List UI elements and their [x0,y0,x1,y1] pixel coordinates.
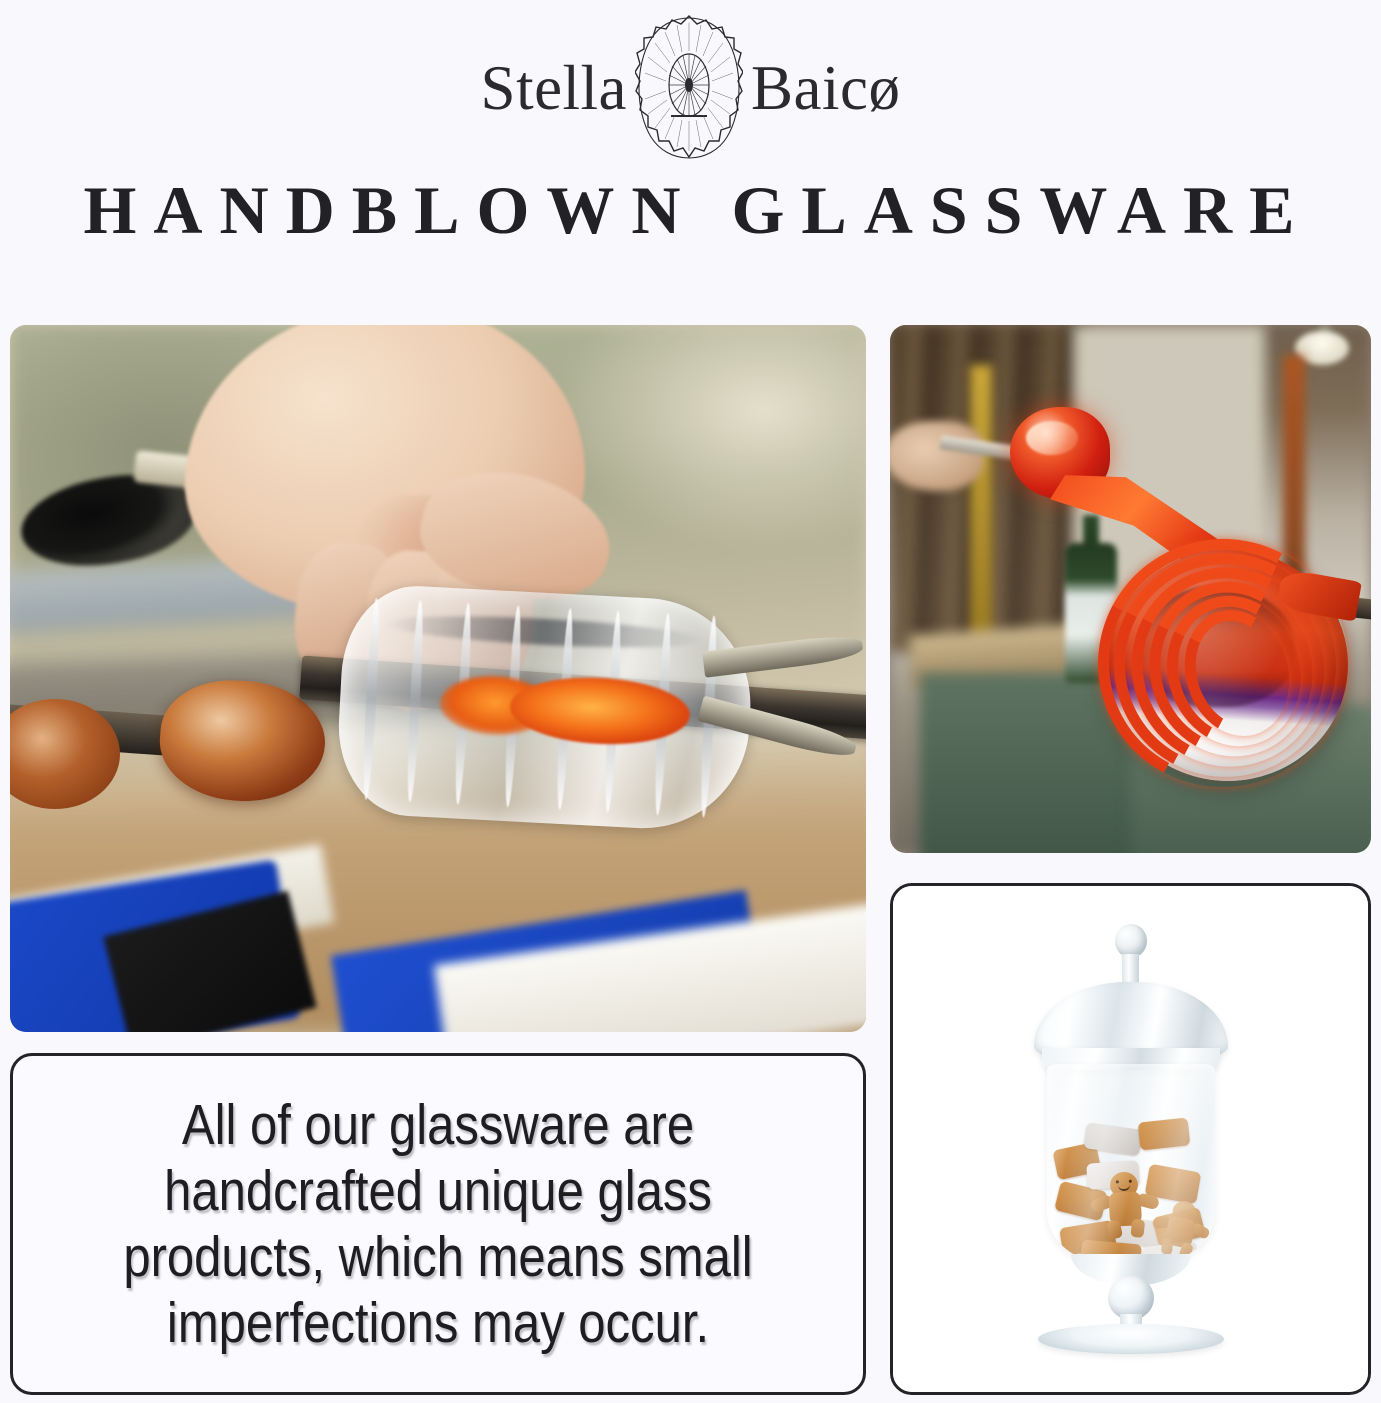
disclaimer-card: All of our glassware are handcrafted uni… [10,1053,866,1395]
spiral-coils [1090,531,1370,801]
jacks-tool [695,619,866,782]
yellow-pole [970,365,992,665]
photo-glassblowing-bench [10,325,866,1032]
gingerbread-man-cookie [1089,1170,1160,1237]
clear-glass-vessel [334,582,755,833]
assistant-hand [890,421,984,491]
gingerbread-cookies [1051,1116,1211,1260]
brand-header: Stella [0,0,1381,170]
photo-cookie-jar [890,883,1371,1395]
oval-sunburst-emblem-icon [635,15,743,161]
apothecary-jar [1016,924,1246,1354]
gather-highlight [1026,421,1078,455]
page-title: HANDBLOWN GLASSWARE [0,170,1381,244]
disclaimer-text: All of our glassware are handcrafted uni… [102,1092,775,1356]
jar-finial [1115,924,1147,958]
gingerbread-man-cookie [1147,1195,1215,1260]
glassblowing-scene [10,325,866,1032]
hot-shop-scene [890,325,1371,853]
content-grid: All of our glassware are handcrafted uni… [10,325,1371,1395]
jar-product-shot [893,886,1368,1392]
brand-name-left: Stella [481,57,627,120]
photo-molten-red-spiral [890,325,1371,853]
jar-body [1047,1064,1215,1264]
brand-name-right: Baicø [751,57,900,120]
jar-foot [1038,1324,1224,1354]
